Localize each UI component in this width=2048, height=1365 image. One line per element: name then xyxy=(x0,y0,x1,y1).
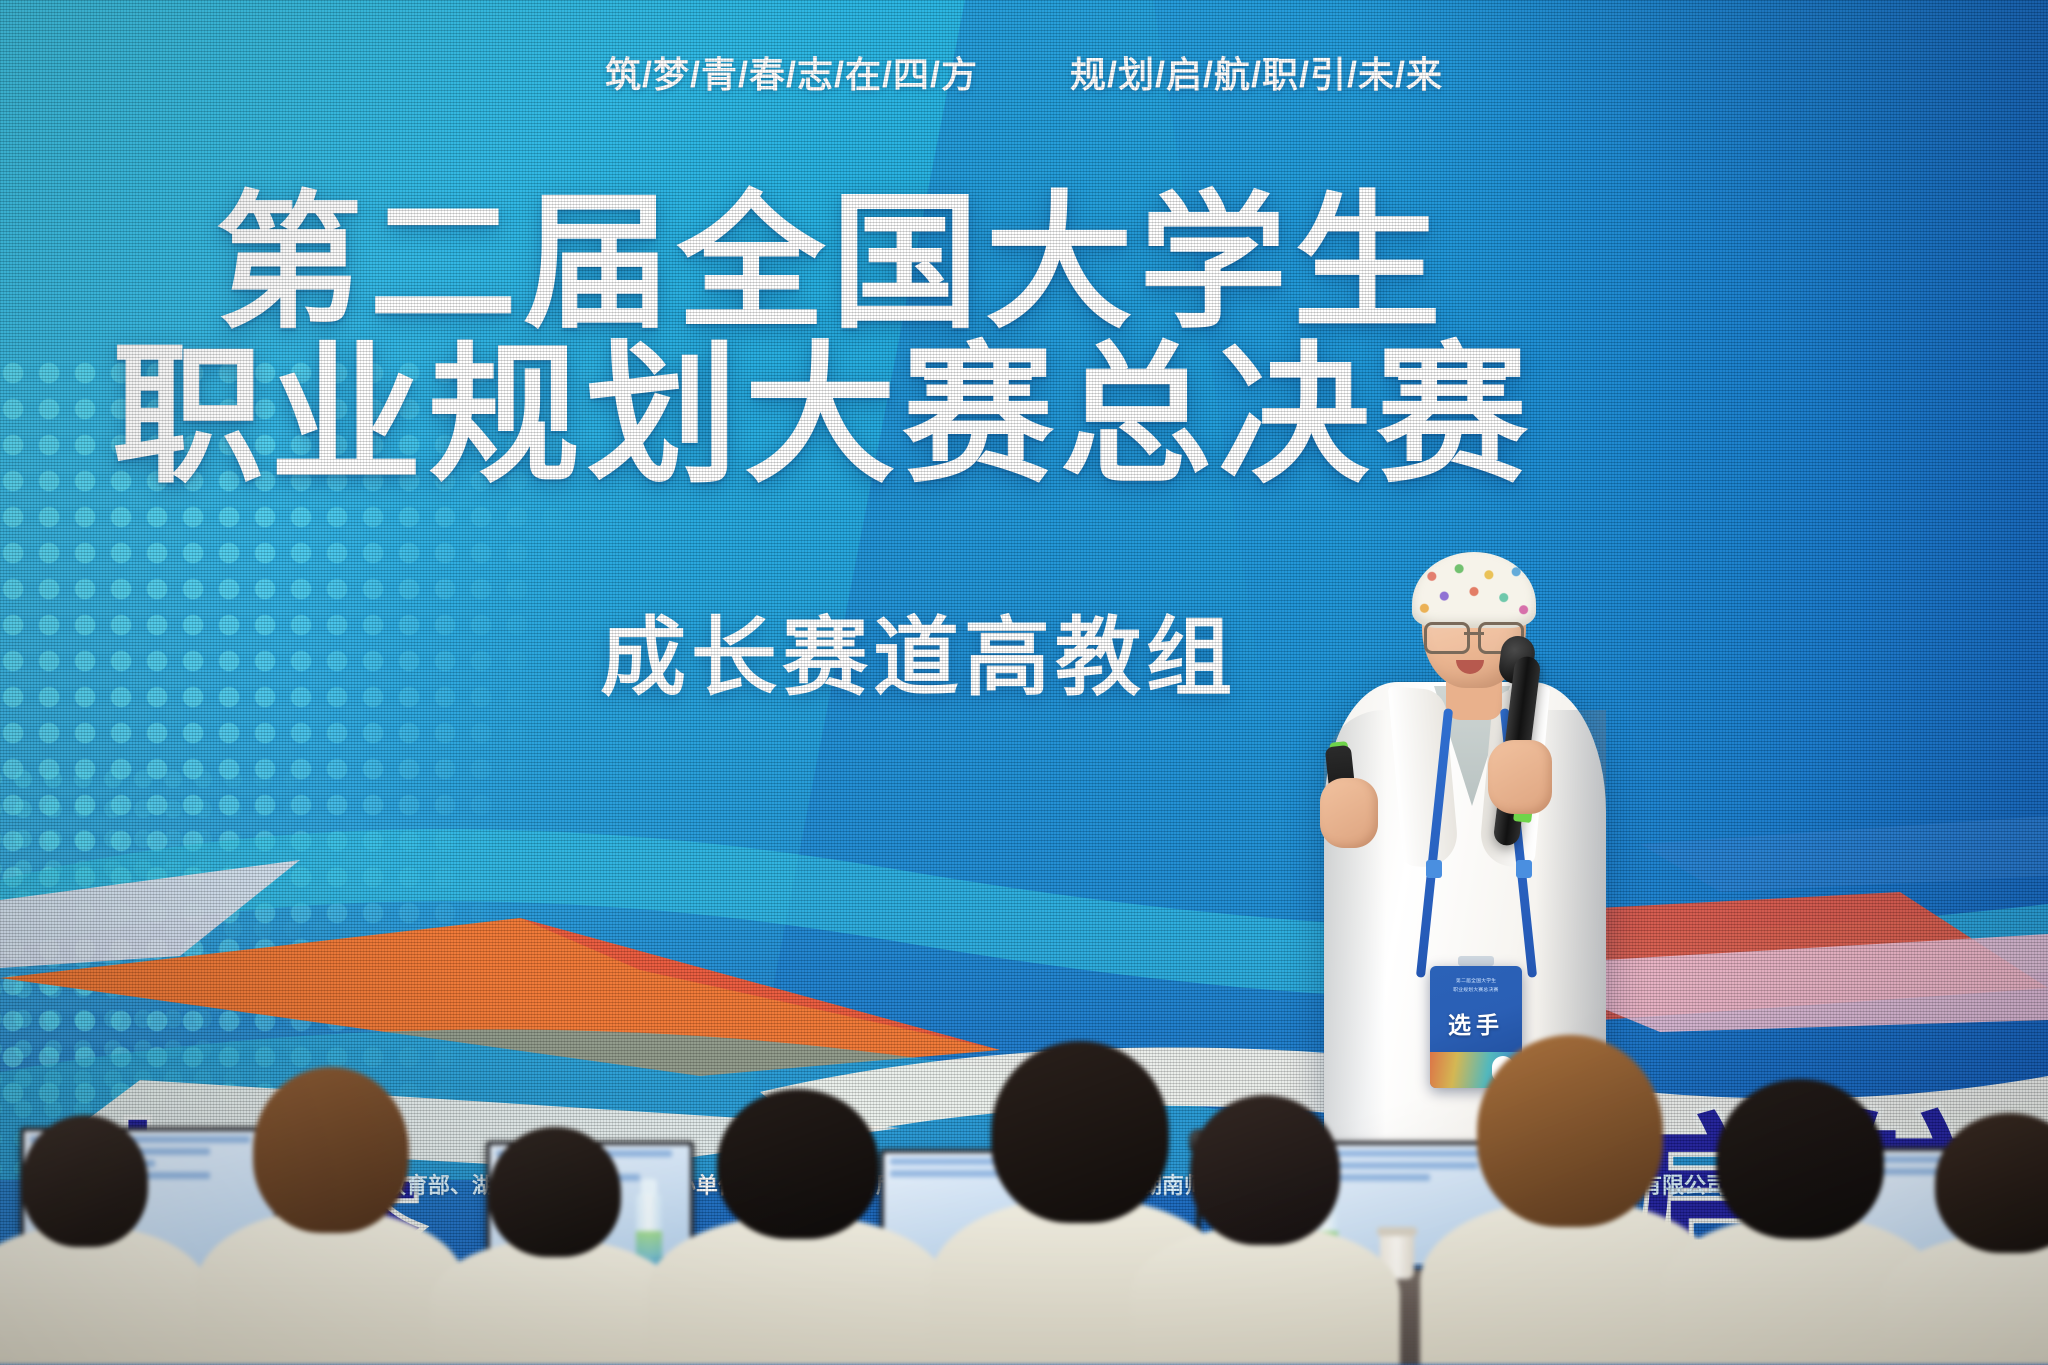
person-head xyxy=(1477,1035,1663,1227)
hand-holding-microphone xyxy=(1488,740,1552,814)
event-slogan: 筑/梦/青/春/志/在/四/方 规/划/启/航/职/引/未/来 xyxy=(0,46,2048,98)
audience-person xyxy=(430,1155,680,1365)
screenshot-root: 筑/梦/青/春/志/在/四/方 规/划/启/航/职/引/未/来 第二届全国大学生… xyxy=(0,0,2048,1365)
surgical-cap xyxy=(1412,552,1536,628)
glasses-bridge xyxy=(1464,632,1484,635)
cap-pattern xyxy=(1412,552,1536,628)
audience-person xyxy=(196,1095,466,1365)
person-head xyxy=(22,1115,148,1247)
audience-person xyxy=(1130,1129,1400,1365)
person-head xyxy=(717,1089,879,1239)
title-line-3: 成长赛道高教组 xyxy=(600,615,1237,701)
person-head xyxy=(1190,1095,1340,1245)
lens-left xyxy=(1424,622,1470,654)
person-body xyxy=(1130,1225,1400,1365)
hand-left xyxy=(1320,778,1378,848)
person-body xyxy=(430,1239,680,1365)
person-head xyxy=(1716,1079,1884,1239)
lanyard-tag-left xyxy=(1426,860,1442,878)
lanyard-tag-right xyxy=(1516,860,1532,878)
audience-person xyxy=(1880,1145,2048,1365)
person-head xyxy=(489,1127,621,1257)
person-head xyxy=(253,1067,409,1233)
audience-person xyxy=(0,1135,210,1365)
badge-event-line-2: 职业规划大赛总决赛 xyxy=(1453,986,1498,993)
slogan-left: 筑/梦/青/春/志/在/四/方 xyxy=(605,46,978,98)
badge-clip xyxy=(1458,956,1494,966)
person-body xyxy=(0,1225,210,1365)
badge-header: 第二届全国大学生 职业规划大赛总决赛 xyxy=(1430,966,1522,996)
audience-person xyxy=(648,1115,948,1365)
foreground-audience xyxy=(0,1035,2048,1365)
slogan-right: 规/划/启/航/职/引/未/来 xyxy=(1070,46,1443,98)
title-line-1: 第二届全国大学生 xyxy=(215,190,1447,338)
title-line-2: 职业规划大赛总决赛 xyxy=(112,340,1534,492)
badge-event-line-1: 第二届全国大学生 xyxy=(1456,977,1496,984)
person-head xyxy=(1935,1113,2048,1253)
